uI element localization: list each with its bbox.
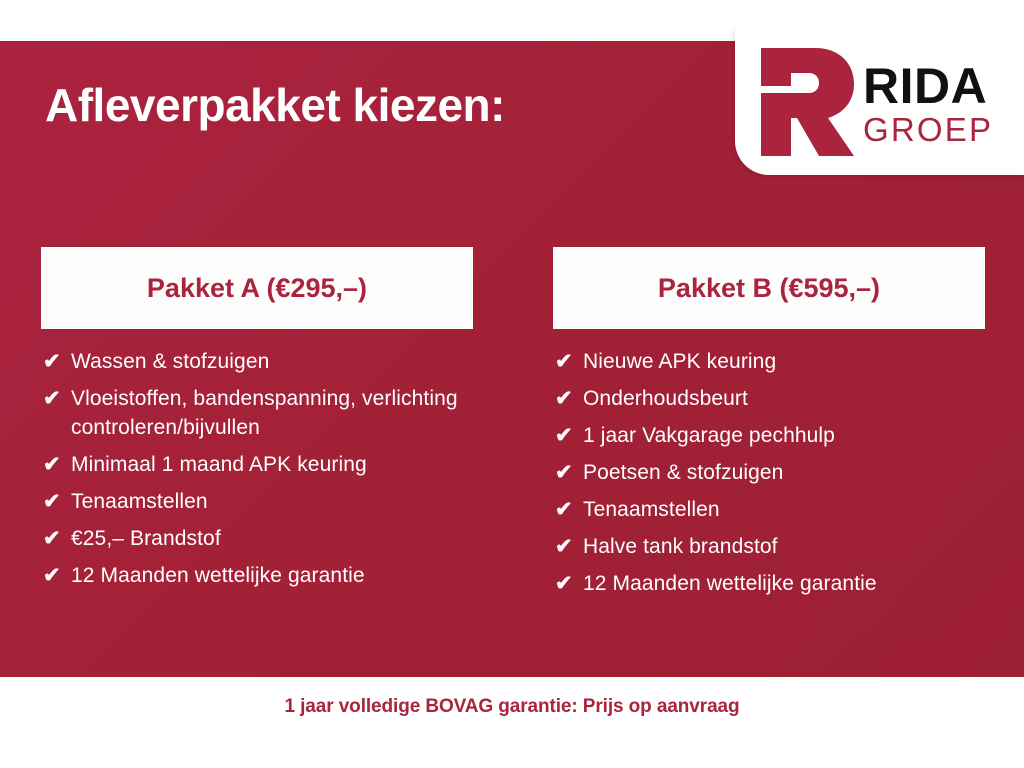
package-a-title: Pakket A (€295,–) xyxy=(147,273,367,304)
brand-logo-card: RIDA GROEP xyxy=(735,28,1024,175)
brand-logo-inner: RIDA GROEP xyxy=(753,40,1024,163)
list-item: ✔ Halve tank brandstof xyxy=(553,532,985,561)
check-icon: ✔ xyxy=(553,421,583,450)
check-icon: ✔ xyxy=(553,532,583,561)
list-item-label: Poetsen & stofzuigen xyxy=(583,458,783,487)
check-icon: ✔ xyxy=(41,487,71,516)
list-item-label: €25,– Brandstof xyxy=(71,524,221,553)
check-icon: ✔ xyxy=(553,458,583,487)
package-b: Pakket B (€595,–) ✔ Nieuwe APK keuring ✔… xyxy=(553,247,985,606)
package-b-title: Pakket B (€595,–) xyxy=(658,273,880,304)
list-item-label: Nieuwe APK keuring xyxy=(583,347,776,376)
list-item: ✔ Tenaamstellen xyxy=(553,495,985,524)
check-icon: ✔ xyxy=(553,495,583,524)
list-item: ✔ Nieuwe APK keuring xyxy=(553,347,985,376)
list-item: ✔ Vloeistoffen, bandenspanning, verlicht… xyxy=(41,384,473,442)
list-item-label: 12 Maanden wettelijke garantie xyxy=(583,569,877,598)
list-item: ✔ 12 Maanden wettelijke garantie xyxy=(553,569,985,598)
brand-name-secondary: GROEP xyxy=(863,113,993,146)
rida-r-monogram-icon xyxy=(753,46,857,158)
check-icon: ✔ xyxy=(553,569,583,598)
list-item-label: Tenaamstellen xyxy=(71,487,208,516)
list-item-label: Halve tank brandstof xyxy=(583,532,778,561)
package-b-header: Pakket B (€595,–) xyxy=(553,247,985,329)
brand-logo-wordmark: RIDA GROEP xyxy=(863,57,993,146)
list-item-label: Wassen & stofzuigen xyxy=(71,347,269,376)
list-item: ✔ Minimaal 1 maand APK keuring xyxy=(41,450,473,479)
slide-root: RIDA GROEP Afleverpakket kiezen: Pakket … xyxy=(0,0,1024,768)
list-item: ✔ €25,– Brandstof xyxy=(41,524,473,553)
check-icon: ✔ xyxy=(553,347,583,376)
package-b-feature-list: ✔ Nieuwe APK keuring ✔ Onderhoudsbeurt ✔… xyxy=(553,347,985,598)
packages-container: Pakket A (€295,–) ✔ Wassen & stofzuigen … xyxy=(41,247,985,606)
list-item: ✔ Tenaamstellen xyxy=(41,487,473,516)
brand-name-primary: RIDA xyxy=(863,61,993,111)
list-item: ✔ 1 jaar Vakgarage pechhulp xyxy=(553,421,985,450)
footer-bar: 1 jaar volledige BOVAG garantie: Prijs o… xyxy=(0,677,1024,768)
list-item: ✔ Onderhoudsbeurt xyxy=(553,384,985,413)
list-item: ✔ 12 Maanden wettelijke garantie xyxy=(41,561,473,590)
package-a: Pakket A (€295,–) ✔ Wassen & stofzuigen … xyxy=(41,247,473,606)
list-item-label: 1 jaar Vakgarage pechhulp xyxy=(583,421,835,450)
package-a-header: Pakket A (€295,–) xyxy=(41,247,473,329)
check-icon: ✔ xyxy=(41,561,71,590)
list-item-label: Onderhoudsbeurt xyxy=(583,384,748,413)
package-a-feature-list: ✔ Wassen & stofzuigen ✔ Vloeistoffen, ba… xyxy=(41,347,473,590)
footer-note: 1 jaar volledige BOVAG garantie: Prijs o… xyxy=(0,696,1024,718)
check-icon: ✔ xyxy=(41,450,71,479)
list-item-label: Minimaal 1 maand APK keuring xyxy=(71,450,367,479)
list-item: ✔ Wassen & stofzuigen xyxy=(41,347,473,376)
check-icon: ✔ xyxy=(41,384,71,413)
check-icon: ✔ xyxy=(41,347,71,376)
list-item-label: 12 Maanden wettelijke garantie xyxy=(71,561,365,590)
list-item-label: Tenaamstellen xyxy=(583,495,720,524)
page-title: Afleverpakket kiezen: xyxy=(45,78,505,132)
check-icon: ✔ xyxy=(41,524,71,553)
check-icon: ✔ xyxy=(553,384,583,413)
list-item: ✔ Poetsen & stofzuigen xyxy=(553,458,985,487)
list-item-label: Vloeistoffen, bandenspanning, verlichtin… xyxy=(71,384,471,442)
